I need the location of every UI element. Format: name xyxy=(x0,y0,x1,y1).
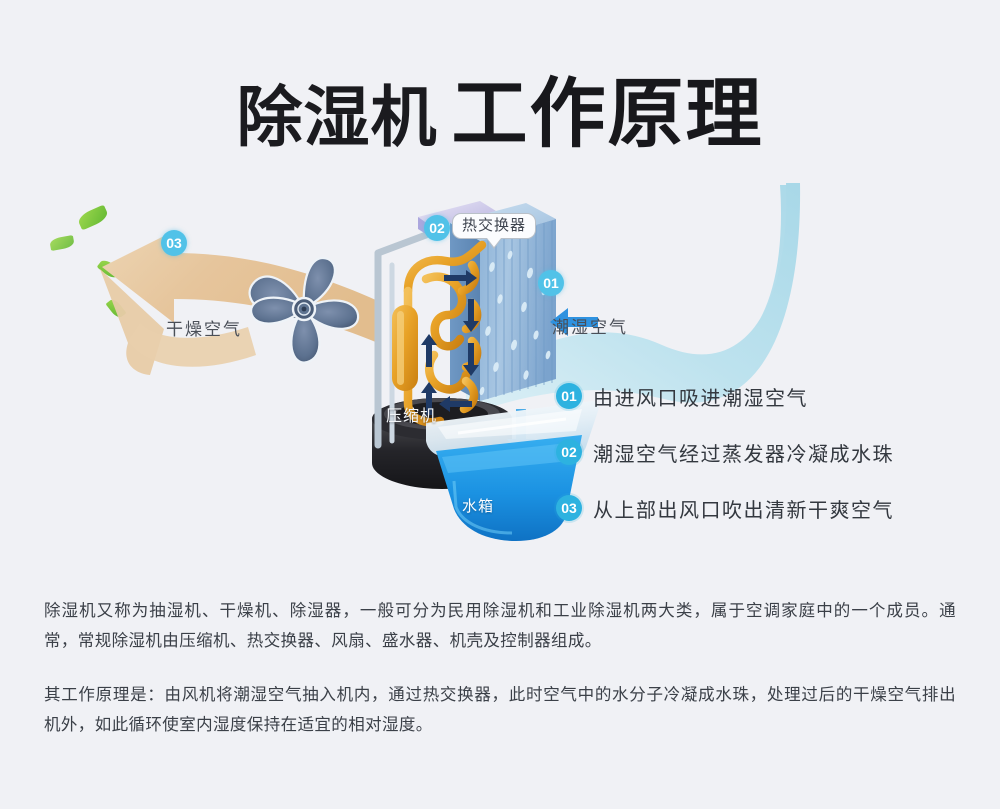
body-copy: 除湿机又称为抽湿机、干燥机、除湿器，一般可分为民用除湿机和工业除湿机两大类，属于… xyxy=(44,596,956,740)
paragraph-principle: 其工作原理是：由风机将潮湿空气抽入机内，通过热交换器，此时空气中的水分子冷凝成水… xyxy=(44,680,956,740)
legend-badge-02: 02 xyxy=(556,439,582,465)
badge-dry-air: 03 xyxy=(161,230,187,256)
page-title-primary: 除湿机 xyxy=(237,80,438,154)
page-title: 除湿机工作原理 xyxy=(0,52,1000,162)
badge-humid-air: 01 xyxy=(538,270,564,296)
compressor-label: 压缩机 xyxy=(386,402,437,426)
legend-item-02: 02 潮湿空气经过蒸发器冷凝成水珠 xyxy=(556,424,976,480)
legend-item-03: 03 从上部出风口吹出清新干爽空气 xyxy=(556,480,976,536)
legend-item-01: 01 由进风口吸进潮湿空气 xyxy=(556,368,976,424)
paragraph-definition: 除湿机又称为抽湿机、干燥机、除湿器，一般可分为民用除湿机和工业除湿机两大类，属于… xyxy=(44,596,956,656)
legend-badge-03: 03 xyxy=(556,495,582,521)
water-tank-label: 水箱 xyxy=(462,495,494,516)
badge-heat-exchanger: 02 xyxy=(424,215,450,241)
legend-label-01: 由进风口吸进潮湿空气 xyxy=(593,382,808,411)
infographic-page: 除湿机工作原理 xyxy=(0,0,1000,809)
page-title-secondary: 工作原理 xyxy=(452,72,764,157)
legend-badge-01: 01 xyxy=(556,383,582,409)
heat-exchanger-callout: 热交换器 xyxy=(452,213,536,239)
legend-label-02: 潮湿空气经过蒸发器冷凝成水珠 xyxy=(593,438,894,467)
leaf-icon xyxy=(49,235,75,251)
process-legend: 01 由进风口吸进潮湿空气 02 潮湿空气经过蒸发器冷凝成水珠 03 从上部出风… xyxy=(556,368,976,536)
dry-air-label: 干燥空气 xyxy=(166,315,242,340)
humid-air-label: 潮湿空气 xyxy=(552,313,628,338)
legend-label-03: 从上部出风口吹出清新干爽空气 xyxy=(593,494,894,523)
